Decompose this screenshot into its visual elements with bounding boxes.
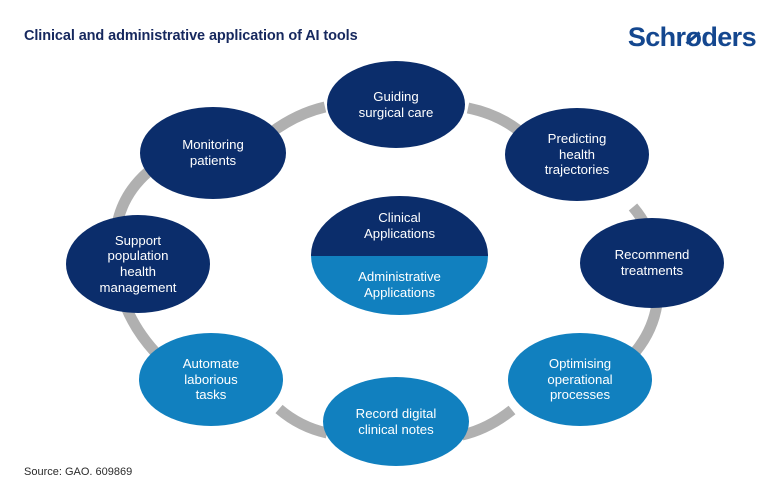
logo-text-part2: ders	[701, 22, 756, 52]
arc-support-to-monitoring	[118, 172, 148, 220]
node-guiding-surgical-care[interactable]: Guiding surgical care	[327, 61, 465, 148]
node-automate-laborious-tasks[interactable]: Automate laborious tasks	[139, 333, 283, 426]
source-note: Source: GAO. 609869	[24, 466, 132, 478]
logo-slashed-o-icon: o	[685, 24, 701, 51]
node-predicting-health-trajectories[interactable]: Predicting health trajectories	[505, 108, 649, 201]
cycle-diagram: Guiding surgical care Predicting health …	[0, 52, 778, 452]
arc-optimising-to-record	[462, 410, 512, 435]
node-recommend-treatments[interactable]: Recommend treatments	[580, 218, 724, 308]
arc-guiding-to-predicting	[468, 108, 518, 130]
logo-o-letter: o	[685, 22, 701, 52]
node-monitoring-patients[interactable]: Monitoring patients	[140, 107, 286, 199]
arc-automate-to-support	[126, 307, 155, 352]
center-clinical-label: Clinical Applications	[358, 210, 441, 242]
center-administrative-label: Administrative Applications	[352, 269, 447, 301]
node-record-digital-clinical-notes[interactable]: Record digital clinical notes	[323, 377, 469, 466]
page-title: Clinical and administrative application …	[24, 28, 358, 44]
node-support-population-health-management[interactable]: Support population health management	[66, 215, 210, 313]
logo-text-part1: Schr	[628, 22, 686, 52]
arc-record-to-automate	[279, 409, 327, 433]
center-administrative-half[interactable]: Administrative Applications	[311, 256, 488, 316]
node-optimising-operational-processes[interactable]: Optimising operational processes	[508, 333, 652, 426]
schroders-logo: Schroders	[628, 24, 756, 51]
center-ellipse[interactable]: Clinical Applications Administrative App…	[311, 196, 488, 315]
slide-canvas: Clinical and administrative application …	[0, 0, 778, 497]
center-clinical-half[interactable]: Clinical Applications	[311, 196, 488, 256]
arc-recommend-to-optimising	[636, 304, 657, 351]
